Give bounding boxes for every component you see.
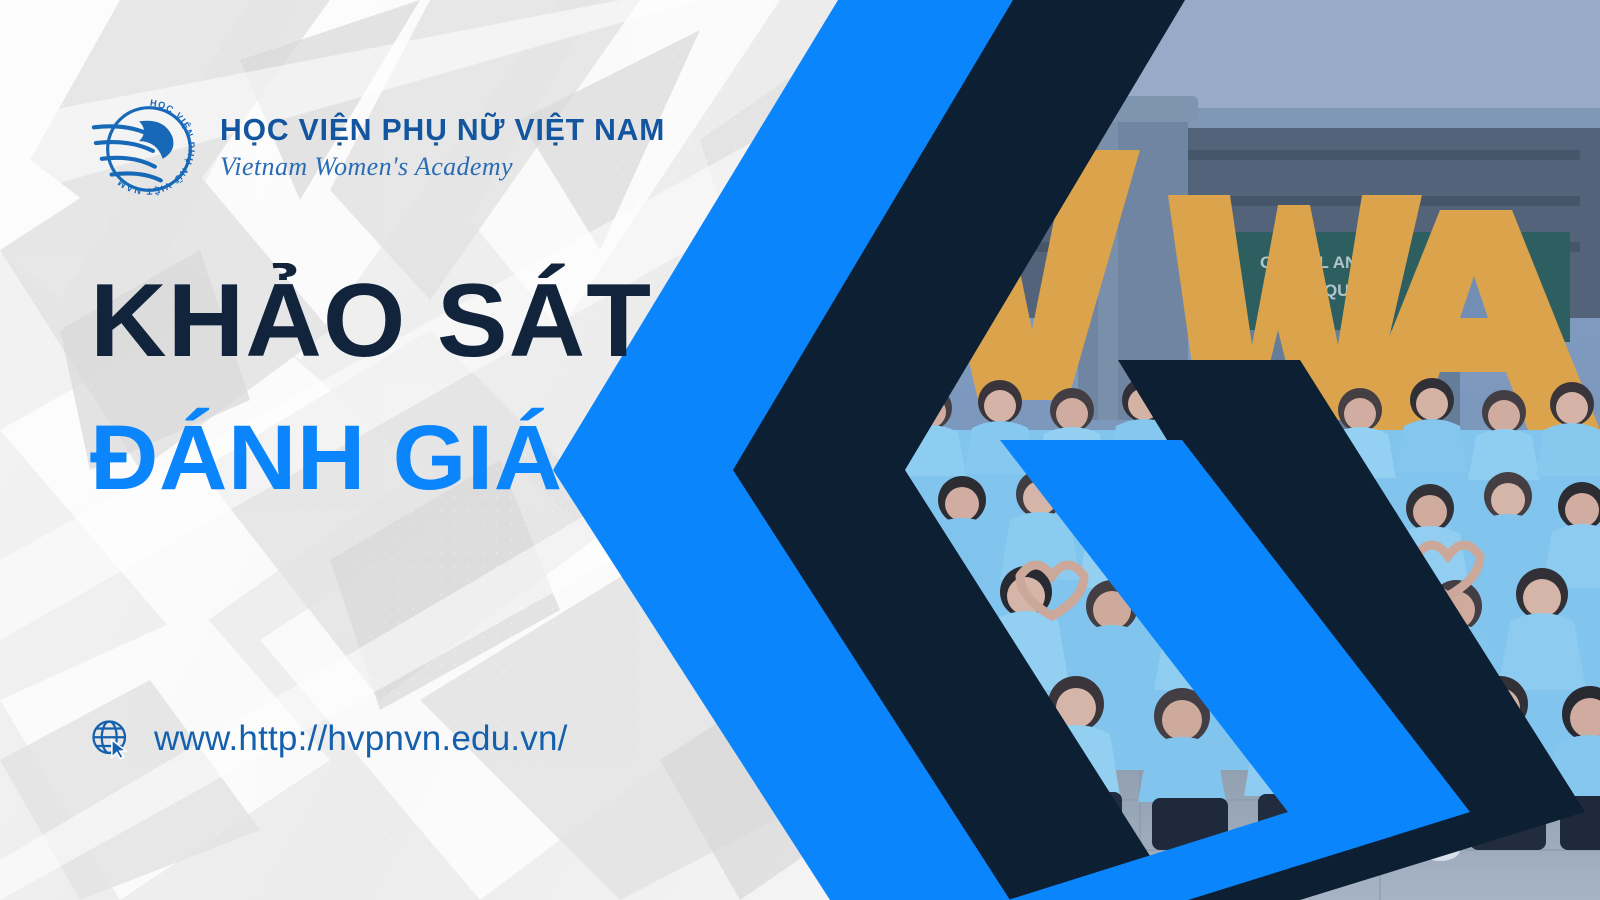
brand-logo-block: HỌC VIỆN PHỤ NỮ VIỆT NAM HỌC VIỆN PHỤ NỮ… bbox=[88, 88, 679, 206]
globe-cursor-icon bbox=[90, 718, 132, 760]
website-link[interactable]: www.http://hvpnvn.edu.vn/ bbox=[90, 718, 568, 760]
website-url-text[interactable]: www.http://hvpnvn.edu.vn/ bbox=[154, 719, 568, 759]
org-name-en: Vietnam Women's Academy bbox=[220, 154, 679, 180]
title-line-1: KHẢO SÁT bbox=[90, 268, 652, 374]
page-title: KHẢO SÁT ĐÁNH GIÁ bbox=[90, 268, 641, 506]
dove-circle-emblem-icon: HỌC VIỆN PHỤ NỮ VIỆT NAM bbox=[88, 88, 206, 206]
brand-text: HỌC VIỆN PHỤ NỮ VIỆT NAM Vietnam Women's… bbox=[220, 114, 679, 180]
slide-canvas: G TH OL ANG BÌN KÍN O QU ÁCH bbox=[0, 0, 1600, 900]
title-line-2: ĐÁNH GIÁ bbox=[90, 412, 658, 506]
org-name-vi: HỌC VIỆN PHỤ NỮ VIỆT NAM bbox=[220, 114, 665, 145]
